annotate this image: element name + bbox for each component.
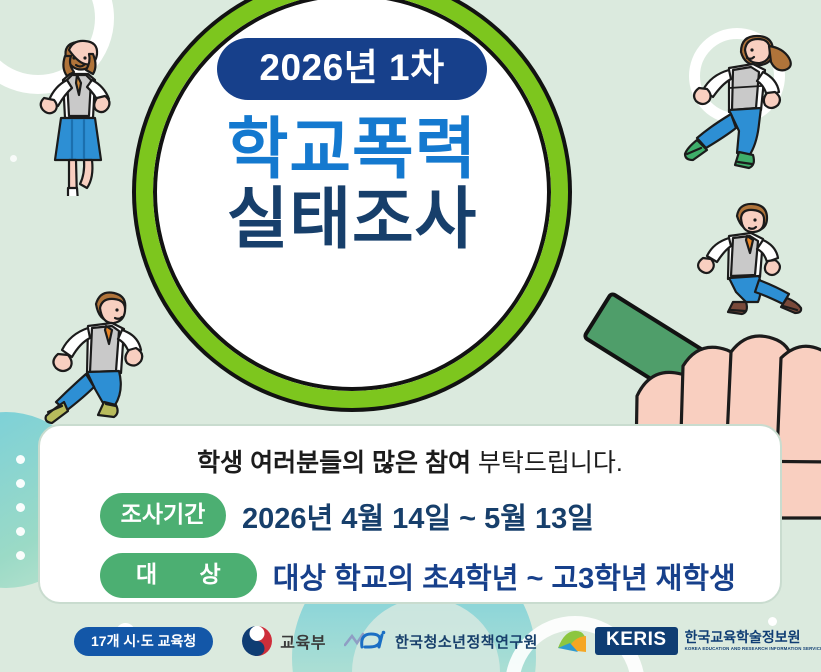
year-badge: 2026년 1차 [217,38,486,100]
org-label-moe: 교육부 [280,629,326,653]
label-pill-period: 조사기간 [100,493,226,538]
footer-organizations: 17개 시·도 교육청 교육부 한국청소년정책연구원 [0,610,821,672]
info-row-target: 대 상 대상 학교의 초4학년 ~ 고3학년 재학생 [66,553,754,598]
headline-normal: 부탁드립니다. [471,449,623,477]
keris-label-korean: 한국교육학술정보원 [685,630,821,645]
student-illustration-girl-running [683,22,807,178]
label-pill-target: 대 상 [100,553,257,598]
value-survey-period: 2026년 4월 14일 ~ 5월 13일 [242,495,594,537]
keris-mark-icon [556,628,588,654]
student-illustration-girl-cheering [22,28,138,196]
lens-content: 2026년 1차 학교폭력 실태조사 [136,0,568,408]
keris-label-english: KOREA EDUCATION AND RESEARCH INFORMATION… [685,646,821,652]
poster-title-line-2: 실태조사 [227,186,478,254]
decor-dot-small-left [10,155,17,162]
value-survey-target: 대상 학교의 초4학년 ~ 고3학년 재학생 [273,555,736,597]
keris-name-block: 한국교육학술정보원 KOREA EDUCATION AND RESEARCH I… [685,630,821,652]
nypi-logo-icon [344,629,388,653]
org-keris: KERIS 한국교육학술정보원 KOREA EDUCATION AND RESE… [556,627,821,655]
org-label-nypi: 한국청소년정책연구원 [395,631,538,652]
taegeuk-icon [241,625,273,657]
headline: 학생 여러분들의 많은 참여 부탁드립니다. [66,448,754,478]
poster-title-line-1: 학교폭력 [227,116,478,184]
info-card: 학생 여러분들의 많은 참여 부탁드립니다. 조사기간 2026년 4월 14일… [38,424,782,604]
org-pill-education-offices: 17개 시·도 교육청 [74,627,213,656]
keris-wordmark: KERIS [595,627,678,655]
poster-root: 2026년 1차 학교폭력 실태조사 학생 여러분들의 많은 참여 부탁드립니다… [0,0,821,672]
org-nypi: 한국청소년정책연구원 [344,629,538,653]
headline-strong: 학생 여러분들의 많은 참여 [197,449,471,477]
info-row-period: 조사기간 2026년 4월 14일 ~ 5월 13일 [66,493,754,538]
org-moe: 교육부 [241,625,326,657]
